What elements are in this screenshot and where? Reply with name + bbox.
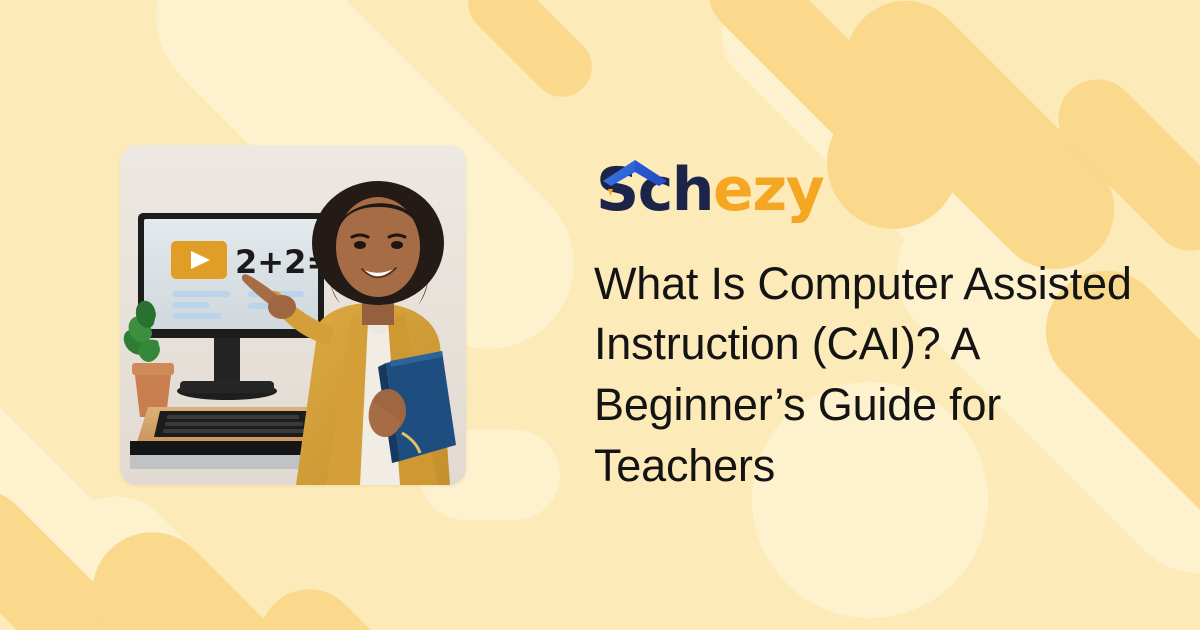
content-column: Schezy What Is Computer Assisted Instruc…	[586, 0, 1200, 630]
hero-photo: 2+2=	[120, 145, 466, 485]
brand-logo[interactable]: Schezy	[596, 134, 1136, 220]
logo-word-part2: ezy	[713, 155, 823, 225]
screen-play-icon	[171, 241, 227, 279]
photo-column: 2+2=	[0, 0, 586, 630]
page-title: What Is Computer Assisted Instruction (C…	[594, 254, 1134, 497]
card-root: 2+2=	[0, 0, 1200, 630]
photo-keyboard	[154, 411, 318, 437]
cap-tassel-icon	[608, 189, 613, 196]
graduation-cap-icon	[601, 158, 669, 198]
